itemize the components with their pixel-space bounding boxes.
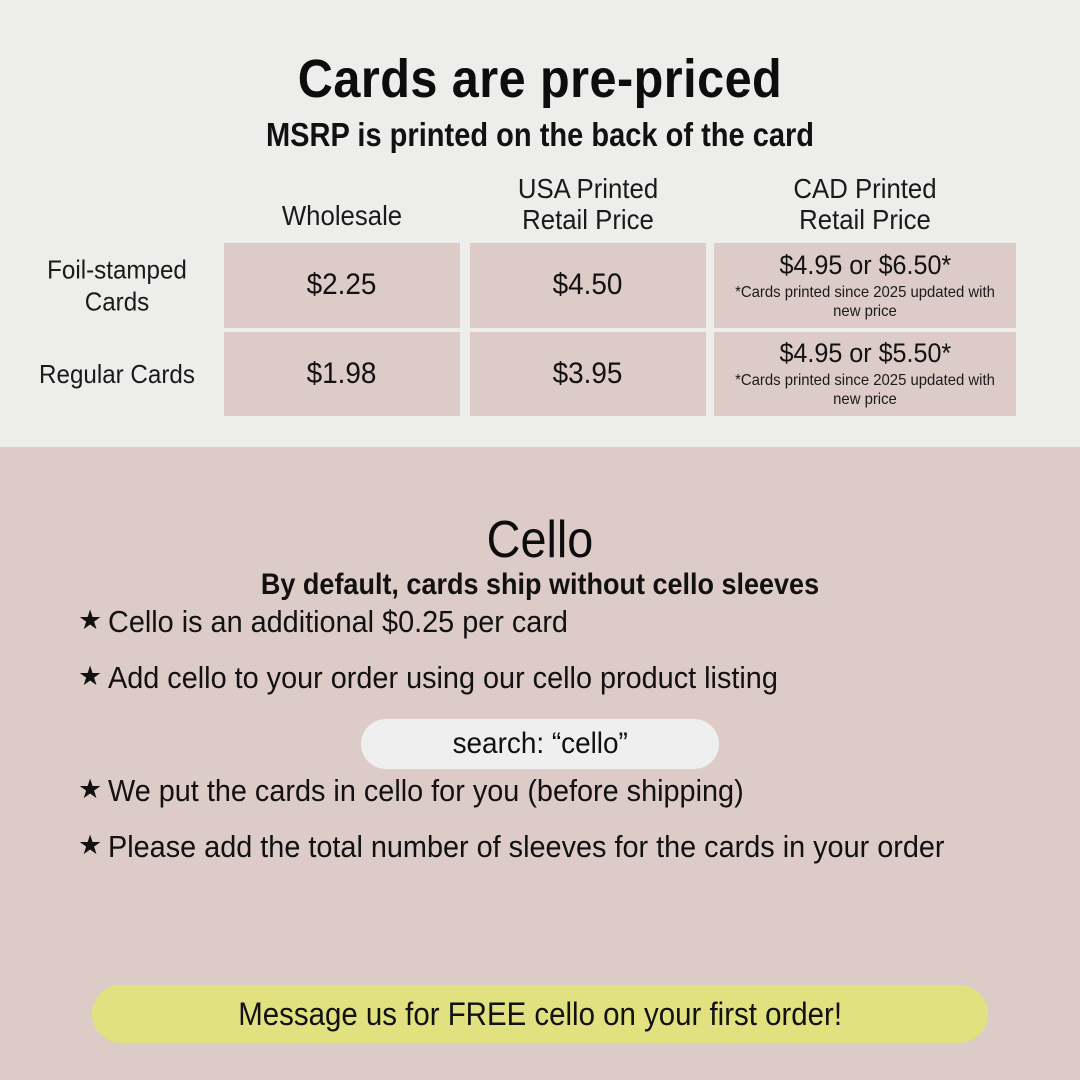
list-item-label: Please add the total number of sleeves f… (108, 827, 954, 867)
cell-foil-wholesale: $2.25 (224, 243, 460, 328)
price-value: $3.95 (553, 357, 623, 392)
list-item-label: Cello is an additional $0.25 per card (108, 602, 954, 642)
price-value: $4.95 or $5.50* (779, 338, 951, 369)
pricing-section: Cards are pre-priced MSRP is printed on … (0, 0, 1080, 447)
column-header-cad-line2: Retail Price (726, 204, 1004, 235)
list-item: ★ We put the cards in cello for you (bef… (78, 771, 1018, 811)
cell-foil-cad-retail: $4.95 or $6.50* *Cards printed since 202… (714, 243, 1016, 328)
row-label-line2: Cards (21, 286, 213, 319)
list-item: ★ Cello is an additional $0.25 per card (78, 602, 1018, 642)
table-row: Foil-stamped Cards $2.25 $4.50 $4.95 or … (0, 243, 1080, 328)
pricing-table: Wholesale USA Printed Retail Price CAD P… (0, 165, 1080, 420)
page-subtitle: MSRP is printed on the back of the card (65, 115, 1015, 155)
table-row: Regular Cards $1.98 $3.95 $4.95 or $5.50… (0, 332, 1080, 416)
cell-regular-wholesale: $1.98 (224, 332, 460, 416)
price-value: $4.95 or $6.50* (779, 250, 951, 281)
search-hint-pill[interactable]: search: “cello” (361, 719, 719, 769)
list-item: ★ Add cello to your order using our cell… (78, 658, 1018, 698)
cta-label: Message us for FREE cello on your first … (238, 998, 842, 1030)
price-footnote: *Cards printed since 2025 updated with n… (725, 372, 1006, 410)
page-title: Cards are pre-priced (54, 50, 1026, 109)
star-icon: ★ (78, 827, 108, 863)
cell-regular-cad-retail: $4.95 or $5.50* *Cards printed since 202… (714, 332, 1016, 416)
column-header-usa-retail: USA Printed Retail Price (479, 173, 696, 236)
cell-foil-usa-retail: $4.50 (470, 243, 706, 328)
row-label-foil-stamped: Foil-stamped Cards (21, 253, 213, 318)
list-item-label: Add cello to your order using our cello … (108, 658, 954, 698)
star-icon: ★ (78, 771, 108, 807)
star-icon: ★ (78, 602, 108, 638)
column-header-cad-line1: CAD Printed (726, 173, 1004, 204)
list-item: ★ Please add the total number of sleeves… (78, 827, 1018, 867)
price-value: $1.98 (307, 357, 377, 392)
column-header-wholesale: Wholesale (233, 200, 450, 231)
price-footnote: *Cards printed since 2025 updated with n… (725, 284, 1006, 322)
table-header-row: Wholesale USA Printed Retail Price CAD P… (0, 165, 1080, 243)
price-value: $4.50 (553, 268, 623, 303)
row-label-line1: Regular Cards (21, 358, 213, 391)
column-header-usa-line1: USA Printed (479, 173, 696, 204)
column-header-cad-retail: CAD Printed Retail Price (726, 173, 1004, 236)
list-item-label: We put the cards in cello for you (befor… (108, 771, 954, 811)
price-value: $2.25 (307, 268, 377, 303)
cello-title: Cello (54, 512, 1026, 569)
search-hint-label: search: “cello” (452, 729, 627, 759)
cta-banner[interactable]: Message us for FREE cello on your first … (92, 985, 988, 1043)
row-label-regular-cards: Regular Cards (21, 358, 213, 391)
cell-regular-usa-retail: $3.95 (470, 332, 706, 416)
column-header-usa-line2: Retail Price (479, 204, 696, 235)
star-icon: ★ (78, 658, 108, 694)
row-label-line1: Foil-stamped (21, 253, 213, 286)
cello-subtitle: By default, cards ship without cello sle… (54, 568, 1026, 603)
infographic-page: Cards are pre-priced MSRP is printed on … (0, 0, 1080, 1080)
